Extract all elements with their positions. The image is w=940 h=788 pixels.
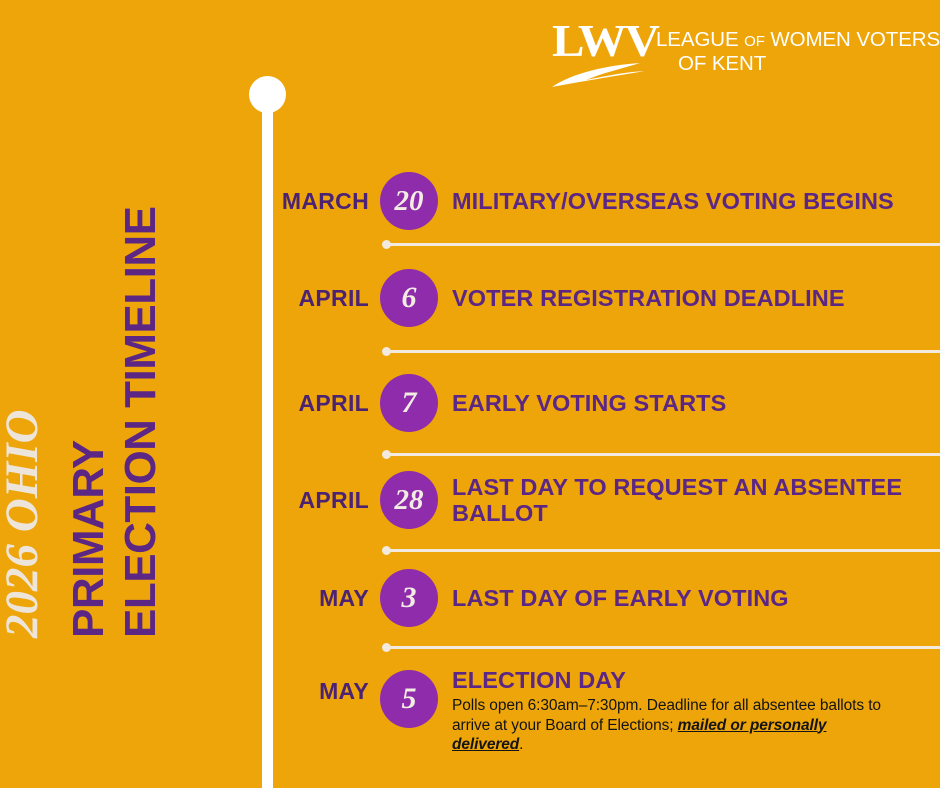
row-day-badge: 20 bbox=[380, 172, 438, 230]
timeline-row: MAY 3 LAST DAY OF EARLY VOTING bbox=[280, 569, 940, 627]
row-day-badge: 7 bbox=[380, 374, 438, 432]
row-divider bbox=[386, 646, 940, 649]
timeline-row: APRIL 7 EARLY VOTING STARTS bbox=[280, 374, 940, 432]
row-day-badge: 5 bbox=[380, 670, 438, 728]
row-event-title: LAST DAY TO REQUEST AN ABSENTEE BALLOT bbox=[452, 474, 927, 526]
row-month: APRIL bbox=[280, 391, 380, 415]
row-divider bbox=[386, 549, 940, 552]
timeline-row: MARCH 20 MILITARY/OVERSEAS VOTING BEGINS bbox=[280, 172, 940, 230]
row-event-title: LAST DAY OF EARLY VOTING bbox=[452, 585, 940, 611]
row-divider bbox=[386, 243, 940, 246]
row-event-title: MILITARY/OVERSEAS VOTING BEGINS bbox=[452, 188, 940, 214]
row-event: ELECTION DAY Polls open 6:30am–7:30pm. D… bbox=[452, 667, 940, 755]
row-event-note: Polls open 6:30am–7:30pm. Deadline for a… bbox=[452, 696, 894, 755]
timeline-row: APRIL 6 VOTER REGISTRATION DEADLINE bbox=[280, 269, 940, 327]
row-event-title: VOTER REGISTRATION DEADLINE bbox=[452, 285, 940, 311]
row-day-badge: 3 bbox=[380, 569, 438, 627]
timeline-row: APRIL 28 LAST DAY TO REQUEST AN ABSENTEE… bbox=[280, 471, 940, 529]
row-month: MAY bbox=[280, 586, 380, 610]
row-event: LAST DAY TO REQUEST AN ABSENTEE BALLOT bbox=[452, 474, 940, 526]
timeline-rows: MARCH 20 MILITARY/OVERSEAS VOTING BEGINS… bbox=[0, 0, 940, 788]
poster-canvas: LWV LEAGUE OF WOMEN VOTERS® OF KENT 2026… bbox=[0, 0, 940, 788]
row-event: VOTER REGISTRATION DEADLINE bbox=[452, 285, 940, 311]
row-month: APRIL bbox=[280, 488, 380, 512]
row-event-title: ELECTION DAY bbox=[452, 667, 940, 693]
note-text-suffix: . bbox=[519, 736, 523, 753]
row-event: EARLY VOTING STARTS bbox=[452, 390, 940, 416]
timeline-row: MAY 5 ELECTION DAY Polls open 6:30am–7:3… bbox=[280, 667, 940, 755]
row-day-badge: 28 bbox=[380, 471, 438, 529]
row-event: LAST DAY OF EARLY VOTING bbox=[452, 585, 940, 611]
row-divider bbox=[386, 453, 940, 456]
row-day-badge: 6 bbox=[380, 269, 438, 327]
row-event: MILITARY/OVERSEAS VOTING BEGINS bbox=[452, 188, 940, 214]
row-month: MAY bbox=[280, 667, 380, 703]
row-month: APRIL bbox=[280, 286, 380, 310]
row-divider bbox=[386, 350, 940, 353]
row-event-title: EARLY VOTING STARTS bbox=[452, 390, 940, 416]
row-month: MARCH bbox=[280, 189, 380, 213]
